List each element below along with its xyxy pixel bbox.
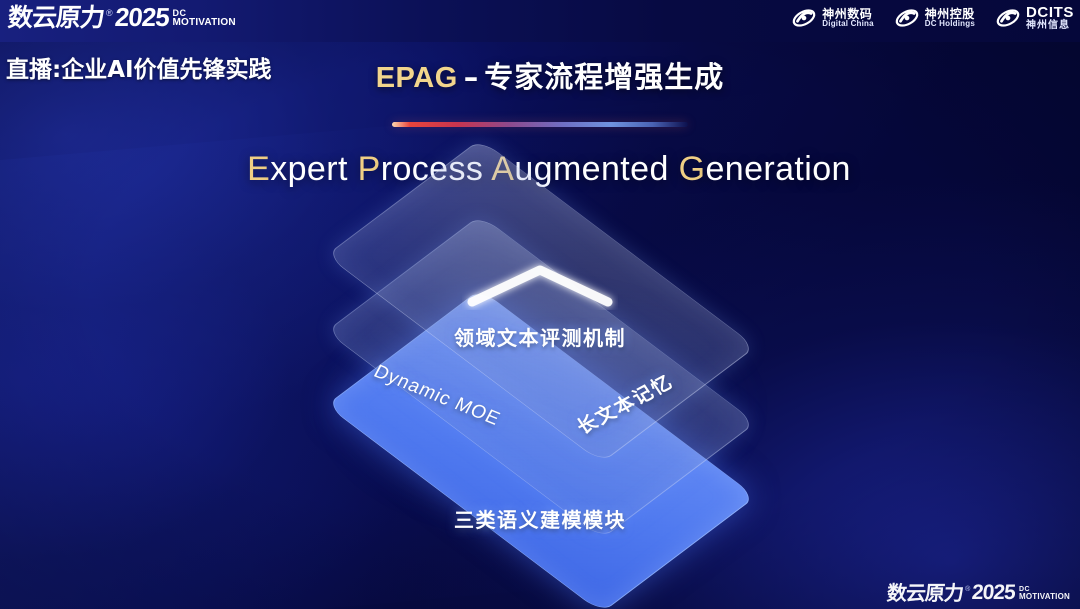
subtitle-initial-letter: G [679, 150, 706, 188]
layer-bottom-label: 三类语义建模模块 [454, 504, 626, 533]
brand-dc-line2: MOTIVATION [173, 18, 236, 28]
brand-year: 2025 [114, 4, 170, 30]
partner-logo-digital-china: 神州数码 Digital China [791, 5, 874, 31]
subtitle-text-run: xpert [270, 150, 357, 188]
gradient-divider [392, 122, 688, 127]
partner-name-en: 神州信息 [1026, 21, 1074, 32]
partner-logo-text: DCITS 神州信息 [1026, 5, 1074, 31]
page-title: EPAG–专家流程增强生成 [0, 54, 1080, 96]
partner-name-cn: DCITS [1026, 5, 1074, 21]
swirl-logo-icon [791, 5, 817, 31]
watermark-dc-line2: MOTIVATION [1019, 593, 1070, 601]
title-acronym: EPAG [376, 62, 458, 94]
watermark-year: 2025 [971, 582, 1016, 603]
watermark-registered-mark: ® [965, 586, 970, 593]
partner-logo-dc-holdings: 神州控股 DC Holdings [894, 5, 975, 31]
swirl-logo-icon [894, 5, 920, 31]
brand-name-cn: 数云原力 [7, 5, 105, 30]
registered-mark: ® [106, 9, 113, 18]
partner-logo-text: 神州控股 DC Holdings [925, 8, 975, 29]
partner-logo-group: 神州数码 Digital China 神州控股 DC Holdings [791, 5, 1074, 31]
subtitle-initial-letter: E [247, 150, 270, 188]
partner-name-en: DC Holdings [925, 20, 975, 28]
watermark-logo: 数云原力 ® 2025 DC MOTIVATION [887, 582, 1070, 603]
subtitle-initial-letter: P [358, 150, 381, 188]
layer-top-label: 领域文本评测机制 [454, 322, 626, 351]
slide-canvas: 数云原力 ® 2025 DC MOTIVATION 直播:企业AI价值先锋实践 … [0, 0, 1080, 609]
partner-logo-text: 神州数码 Digital China [822, 8, 874, 29]
partner-logo-dcits: DCITS 神州信息 [995, 5, 1074, 31]
swirl-logo-icon [995, 5, 1021, 31]
partner-name-en: Digital China [822, 20, 874, 28]
title-chinese: 专家流程增强生成 [484, 60, 724, 94]
watermark-dc-motivation: DC MOTIVATION [1019, 586, 1070, 601]
title-dash: – [458, 60, 485, 94]
layered-architecture-diagram: 领域文本评测机制 Dynamic MOE 长文本记忆 三类语义建模模块 [278, 222, 802, 562]
subtitle-text-run: eneration [705, 150, 850, 188]
watermark-name-cn: 数云原力 [886, 583, 964, 603]
brand-dc-motivation: DC MOTIVATION [173, 9, 236, 28]
brand-logo: 数云原力 ® 2025 DC MOTIVATION [8, 4, 236, 30]
